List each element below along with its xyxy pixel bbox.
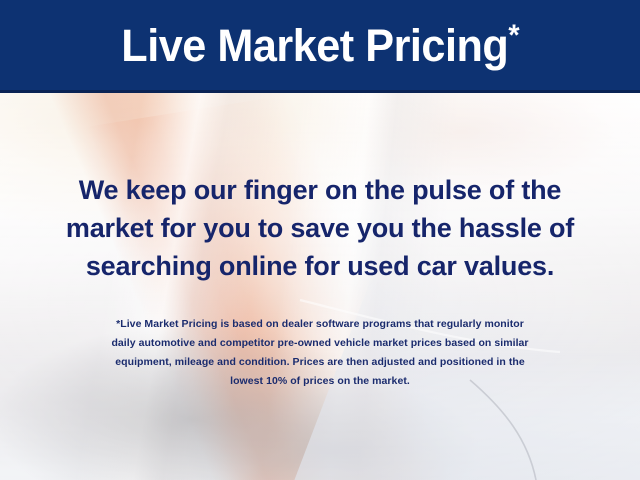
page-title: Live Market Pricing* [121,23,519,68]
header-banner: Live Market Pricing* [0,0,640,93]
disclaimer-line-2: daily automotive and competitor pre-owne… [24,334,616,353]
live-market-pricing-card: Live Market Pricing* We keep our finger … [0,0,640,480]
headline-line-1: We keep our finger on the pulse of the [20,171,620,209]
disclaimer-line-1: *Live Market Pricing is based on dealer … [24,315,616,334]
page-title-asterisk: * [508,19,519,52]
disclaimer-line-4: lowest 10% of prices on the market. [24,372,616,391]
content-area: We keep our finger on the pulse of the m… [0,93,640,480]
disclaimer-line-3: equipment, mileage and condition. Prices… [24,353,616,372]
disclaimer-block: *Live Market Pricing is based on dealer … [24,315,616,391]
headline-line-2: market for you to save you the hassle of [20,209,620,247]
headline-block: We keep our finger on the pulse of the m… [20,171,620,285]
headline-line-3: searching online for used car values. [20,247,620,285]
page-title-text: Live Market Pricing [121,20,508,71]
